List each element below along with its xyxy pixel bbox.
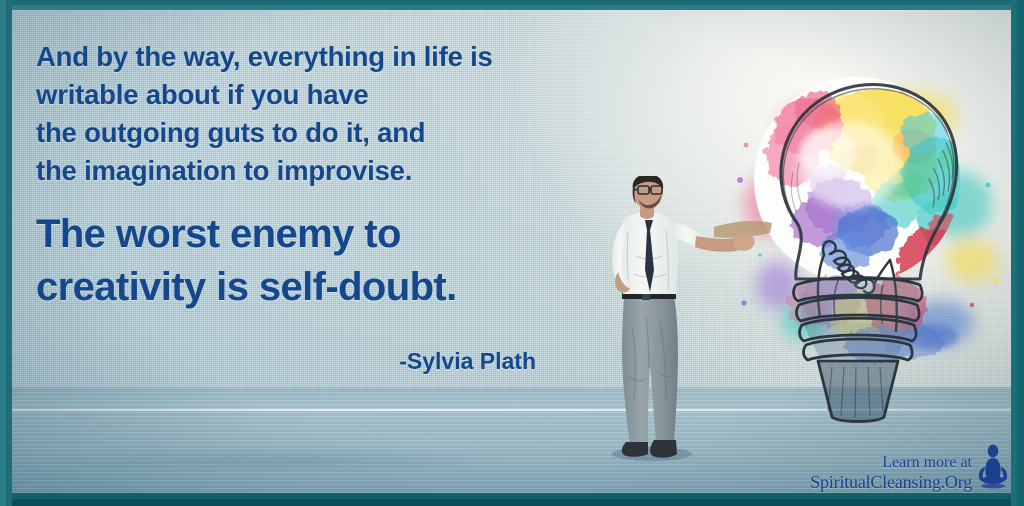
quote-line-4: the imagination to improvise. [36,152,656,190]
quote-attribution: -Sylvia Plath [36,348,536,375]
quote-line-2: writable about if you have [36,76,656,114]
quote-emphasis-line-2: creativity is self-doubt. [36,261,656,314]
branding-tagline: Learn more at [810,453,972,473]
right-shoe [650,440,677,458]
branding-text: Learn more at SpiritualCleansing.Org [810,453,972,494]
quote-text-block: And by the way, everything in life is wr… [36,38,656,314]
left-shoe [622,442,648,457]
branding-block[interactable]: Learn more at SpiritualCleansing.Org [810,444,1010,494]
meditating-figure-logo [976,444,1010,492]
branding-site-name[interactable]: SpiritualCleansing.Org [810,472,972,494]
meditating-figure-icon [976,444,1010,492]
quote-line-3: the outgoing guts to do it, and [36,114,656,152]
quote-line-1: And by the way, everything in life is [36,38,656,76]
quote-emphasis-line-1: The worst enemy to [36,208,656,261]
quote-poster: And by the way, everything in life is wr… [0,0,1024,506]
trousers [622,296,678,444]
floor-shadow [50,447,511,473]
right-hand [734,235,755,251]
quote-spacer [36,190,656,208]
